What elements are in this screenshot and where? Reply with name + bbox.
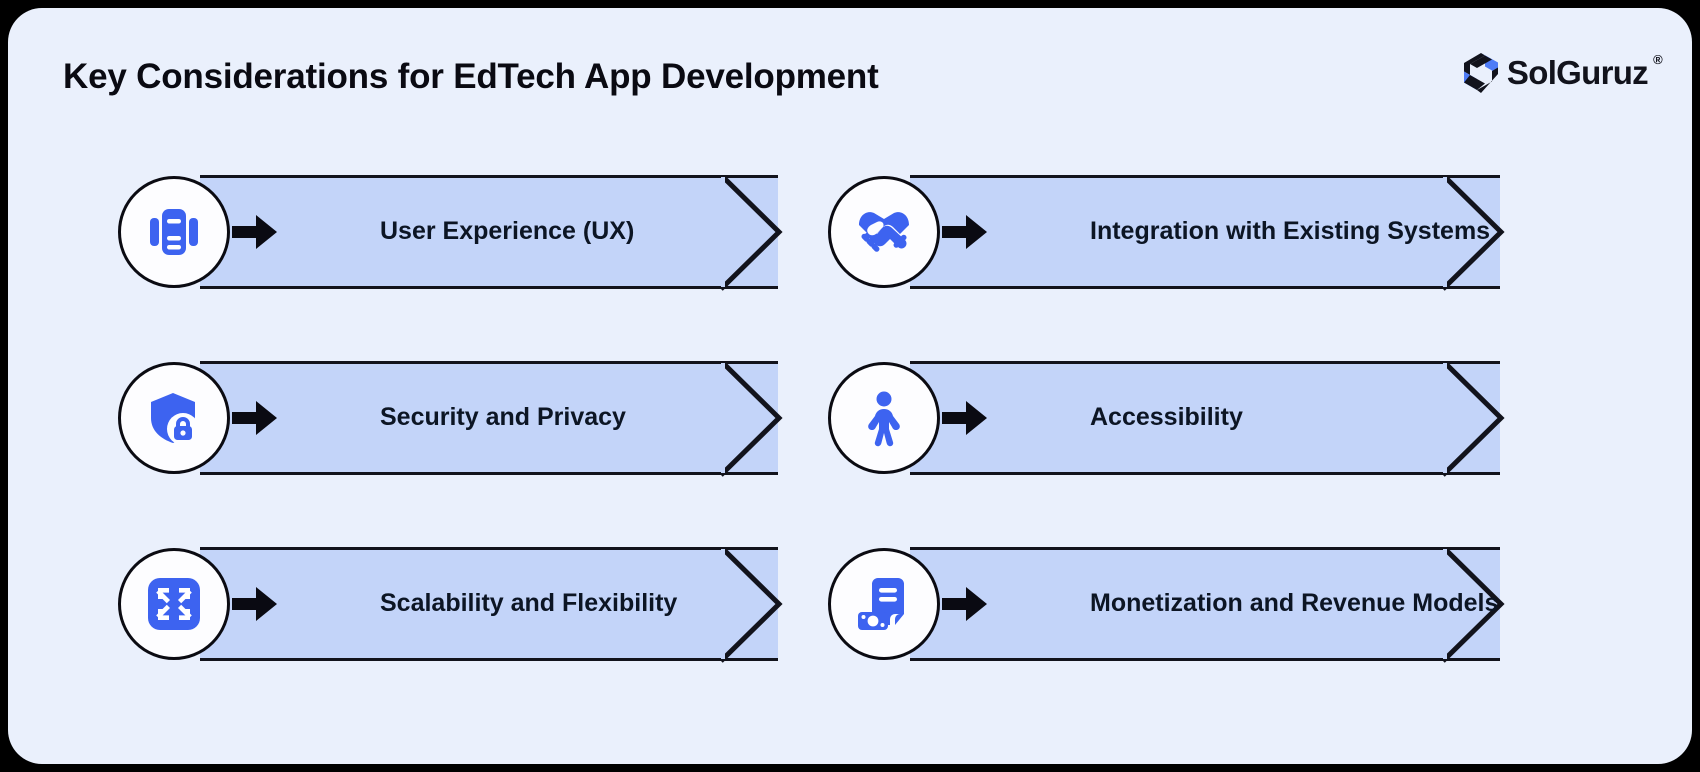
expand-arrows-icon	[146, 576, 202, 632]
right-arrow-icon	[232, 584, 278, 624]
banner-shape: Monetization and Revenue Models	[910, 547, 1500, 661]
item-label: Accessibility	[1090, 401, 1510, 435]
page-title: Key Considerations for EdTech App Develo…	[63, 57, 879, 97]
consideration-item-accessibility[interactable]: Accessibility	[828, 330, 1508, 505]
right-arrow-icon	[232, 398, 278, 438]
right-arrow-icon	[942, 584, 988, 624]
icon-circle	[828, 548, 940, 660]
registered-trademark-icon: ®	[1653, 52, 1662, 67]
icon-circle	[828, 362, 940, 474]
item-label: Security and Privacy	[380, 401, 780, 435]
invoice-money-icon	[856, 576, 912, 632]
icon-circle	[118, 362, 230, 474]
item-label: Monetization and Revenue Models	[1090, 587, 1510, 621]
right-arrow-icon	[232, 212, 278, 252]
banner-shape: Scalability and Flexibility	[200, 547, 778, 661]
document-carousel-icon	[145, 203, 203, 261]
brand-name-text: SolGuruz	[1507, 54, 1648, 91]
consideration-item-security-privacy[interactable]: Security and Privacy	[118, 330, 778, 505]
item-label: Integration with Existing Systems	[1090, 215, 1510, 249]
handshake-icon	[855, 203, 913, 261]
solguruz-hexagon-icon	[1461, 52, 1501, 94]
item-label: User Experience (UX)	[380, 215, 780, 249]
item-label: Scalability and Flexibility	[380, 587, 780, 621]
banner-shape: Integration with Existing Systems	[910, 175, 1500, 289]
shield-lock-icon	[145, 389, 203, 447]
icon-circle	[118, 176, 230, 288]
icon-circle	[118, 548, 230, 660]
accessibility-person-icon	[855, 389, 913, 447]
right-arrow-icon	[942, 398, 988, 438]
infographic-card: Key Considerations for EdTech App Develo…	[8, 8, 1692, 764]
header: Key Considerations for EdTech App Develo…	[8, 8, 1692, 126]
brand-name: SolGuruz ®	[1507, 54, 1648, 92]
consideration-item-scalability[interactable]: Scalability and Flexibility	[118, 516, 778, 691]
brand-logo: SolGuruz ®	[1461, 52, 1648, 94]
consideration-item-monetization[interactable]: Monetization and Revenue Models	[828, 516, 1508, 691]
banner-shape: User Experience (UX)	[200, 175, 778, 289]
consideration-item-user-experience[interactable]: User Experience (UX)	[118, 144, 778, 319]
banner-shape: Accessibility	[910, 361, 1500, 475]
considerations-grid: User Experience (UX)	[8, 126, 1692, 764]
banner-shape: Security and Privacy	[200, 361, 778, 475]
icon-circle	[828, 176, 940, 288]
consideration-item-integration[interactable]: Integration with Existing Systems	[828, 144, 1508, 319]
right-arrow-icon	[942, 212, 988, 252]
